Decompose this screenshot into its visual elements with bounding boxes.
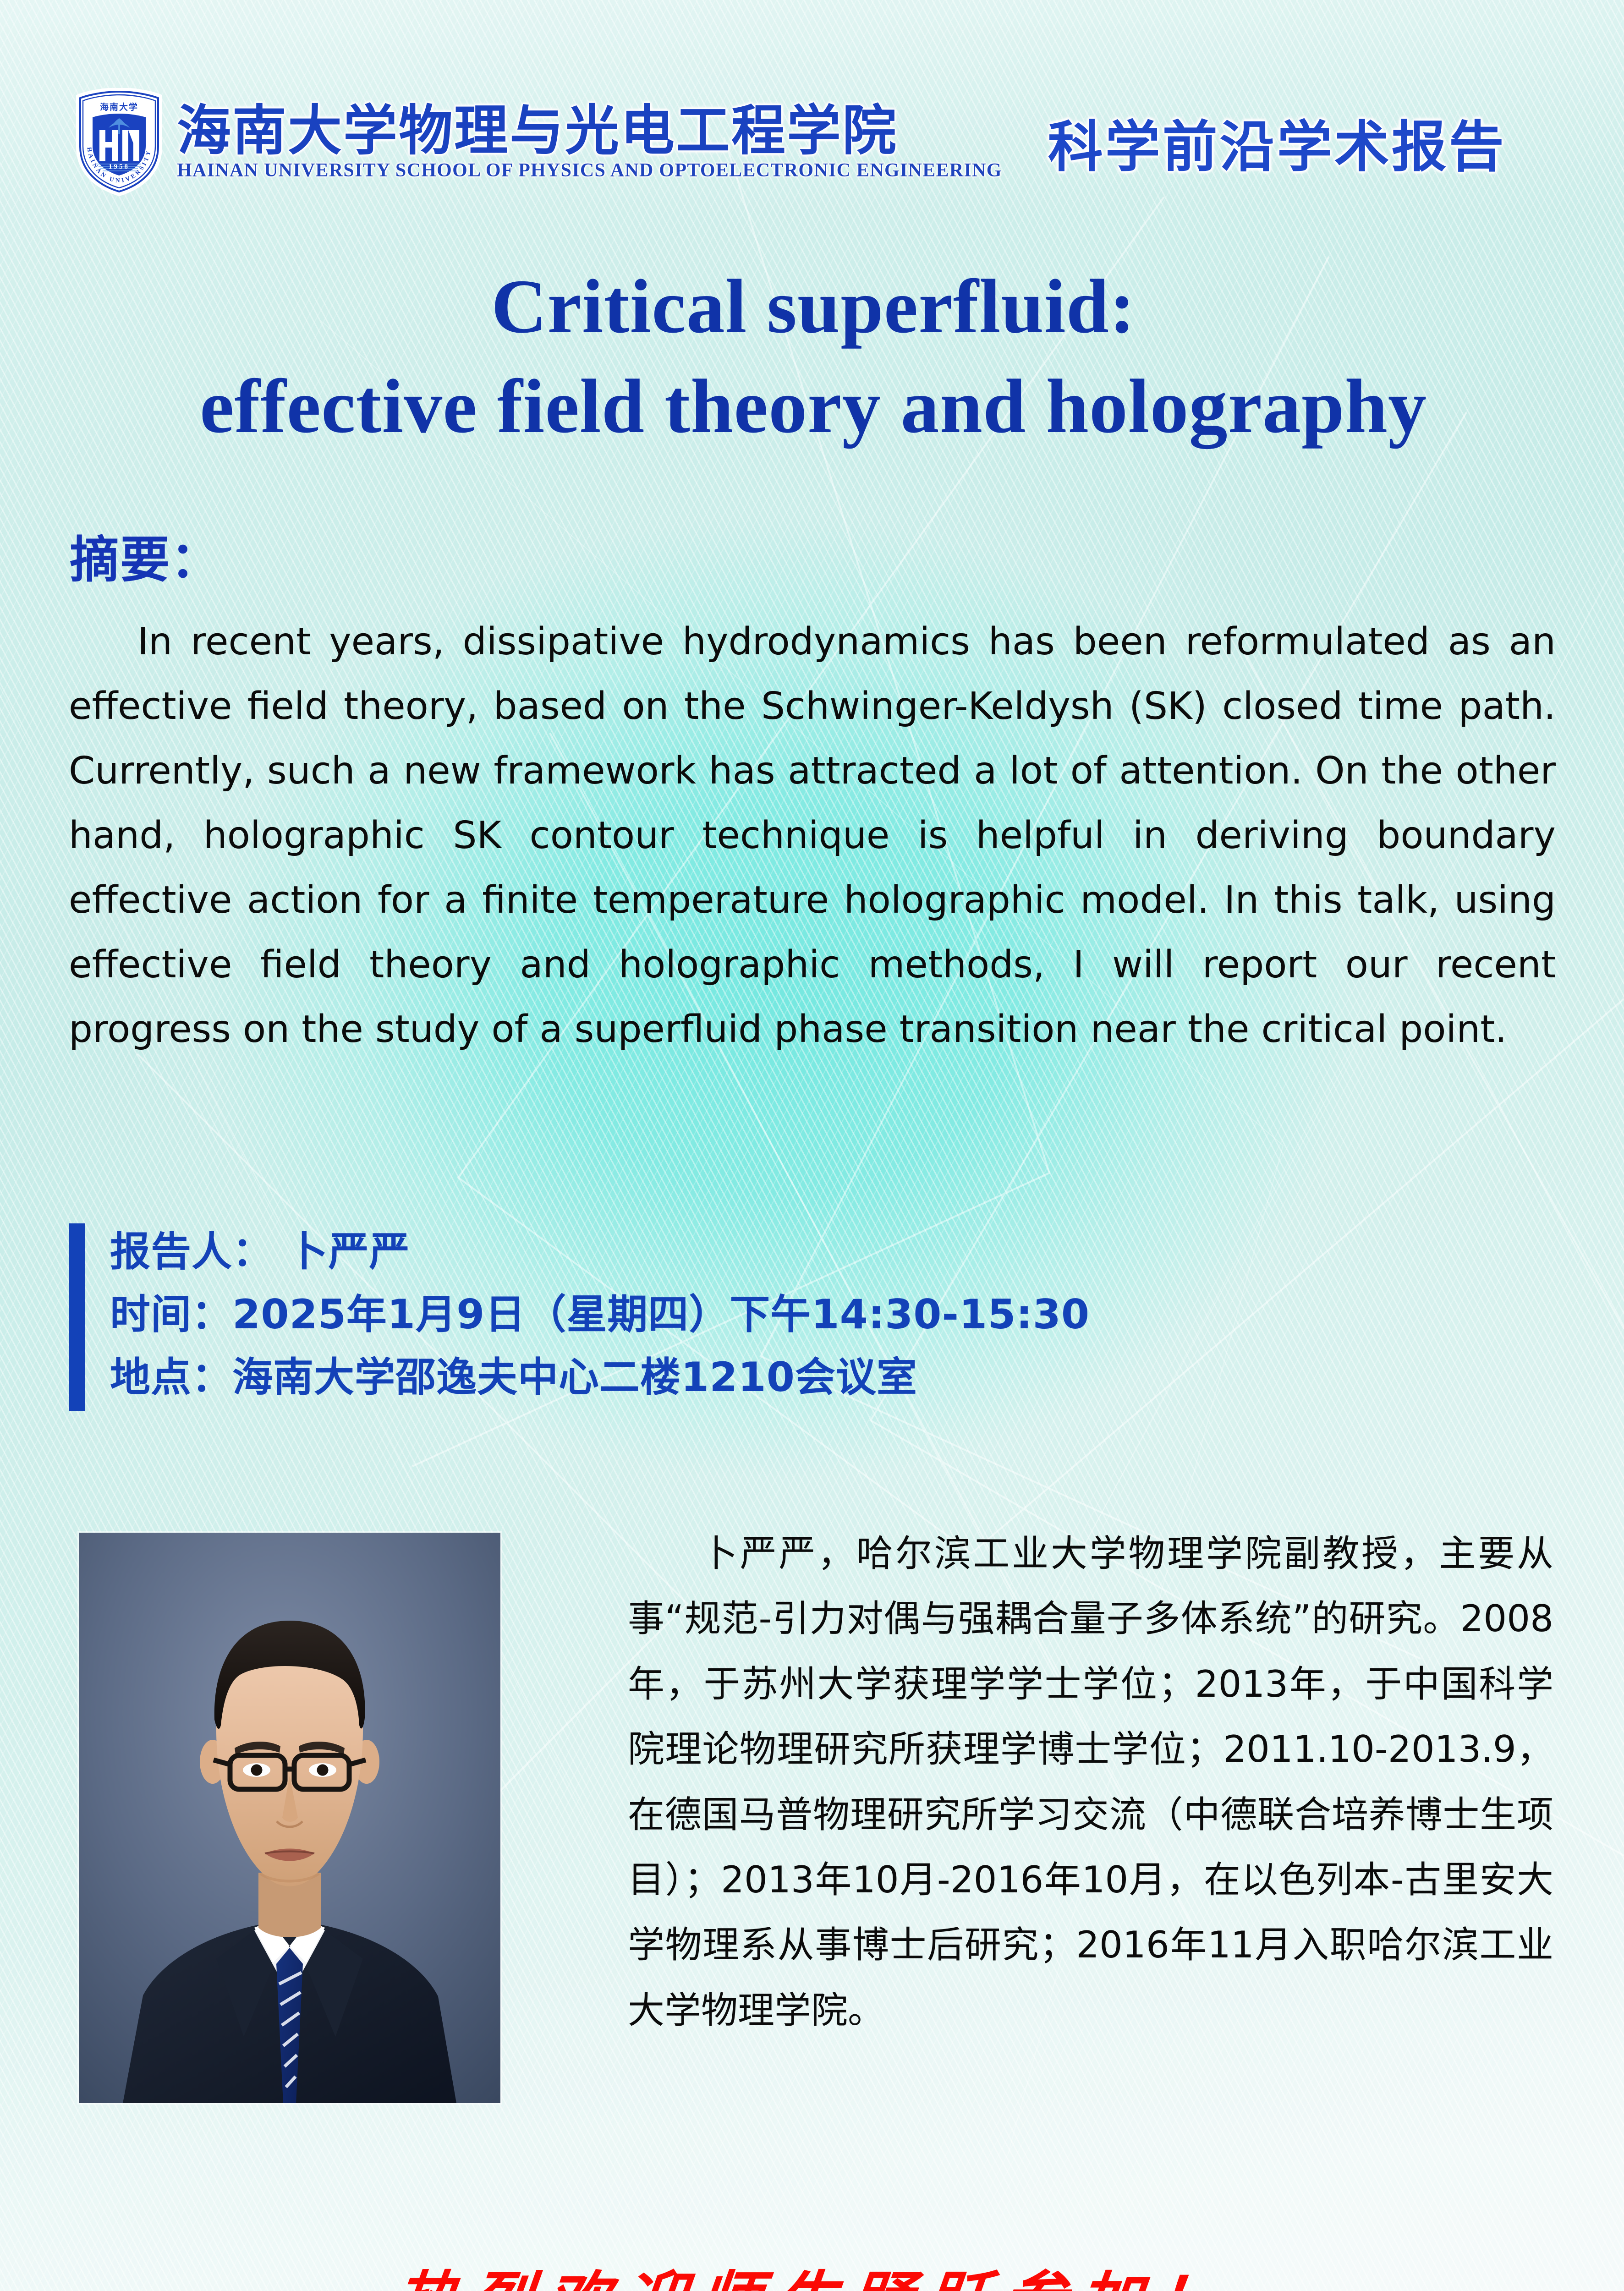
svg-text:海南大学: 海南大学 (100, 102, 138, 112)
event-info-block: 报告人： 卜严严 时间：2025年1月9日（星期四）下午14:30-15:30 … (69, 1223, 1090, 1411)
speaker-bio: 卜严严，哈尔滨工业大学物理学院副教授，主要从事“规范-引力对偶与强耦合量子多体系… (628, 1521, 1553, 2043)
poster-header: 海南大学 1958 (73, 87, 1558, 197)
university-name-en: HAINAN UNIVERSITY SCHOOL OF PHYSICS AND … (177, 159, 1002, 181)
hainan-university-crest-icon: 海南大学 1958 (73, 88, 165, 196)
talk-title-line-2: effective field theory and holography (78, 356, 1549, 456)
university-name-cn: 海南大学物理与光电工程学院 (177, 103, 1002, 159)
speaker-portrait-photo (79, 1533, 500, 2103)
university-wordmark: 海南大学物理与光电工程学院 HAINAN UNIVERSITY SCHOOL O… (177, 103, 1002, 181)
talk-title-line-1: Critical superfluid: (78, 257, 1549, 356)
info-accent-bar (69, 1223, 85, 1411)
event-speaker-row: 报告人： 卜严严 (110, 1223, 1090, 1286)
seminar-poster: 海南大学 1958 (0, 0, 1624, 2291)
abstract-label: 摘要： (70, 520, 221, 592)
talk-title: Critical superfluid: effective field the… (78, 257, 1549, 457)
event-location-row: 地点：海南大学邵逸夫中心二楼1210会议室 (110, 1349, 1090, 1412)
event-time-row: 时间：2025年1月9日（星期四）下午14:30-15:30 (110, 1286, 1090, 1349)
welcome-message: 热烈欢迎师生踊跃参加！ (0, 2250, 1624, 2291)
abstract-body: In recent years, dissipative hydrodynami… (69, 609, 1556, 1062)
svg-text:1958: 1958 (109, 163, 130, 170)
lecture-series-title: 科学前沿学术报告 (1048, 102, 1506, 182)
